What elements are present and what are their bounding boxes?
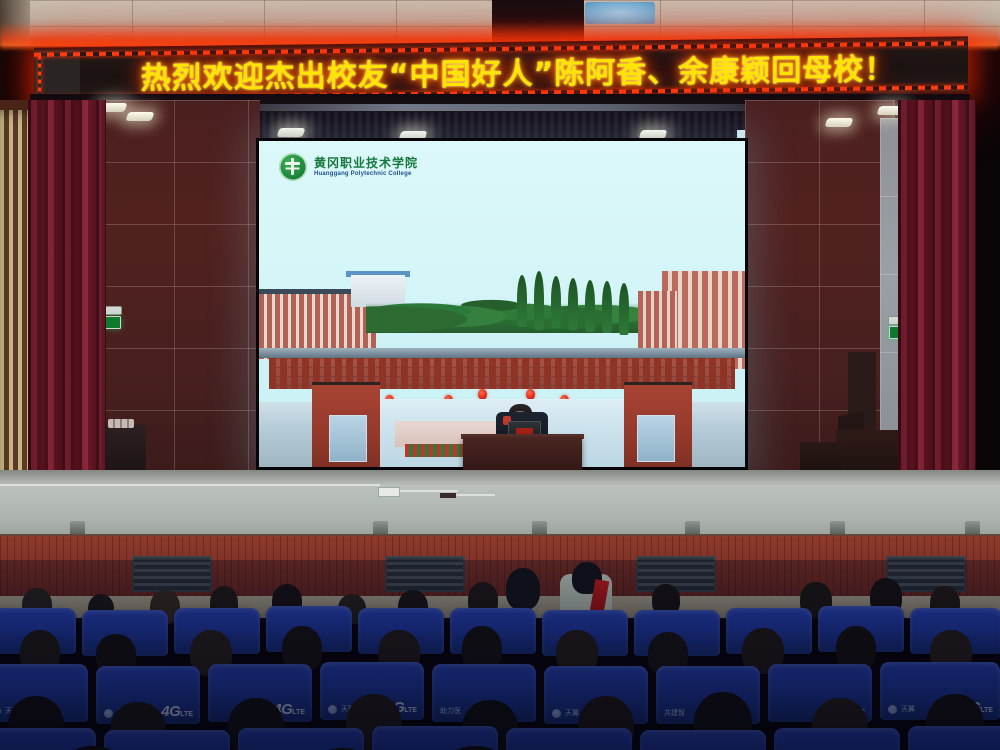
stage-floor-light-1	[70, 521, 85, 534]
audience-seating: 天翼 天翼 4GLTE 4GLTE 天翼 4GLTE 助力医	[0, 560, 1000, 750]
screen-cypress-6	[602, 281, 613, 333]
stage-floor-light-4	[685, 521, 700, 534]
seat[interactable]: 天翼 4GLTE	[506, 728, 632, 750]
seat-slogan: 助力医	[440, 706, 461, 716]
ceiling-spotlight-1	[126, 112, 155, 121]
ceiling-spotlight-6	[825, 118, 854, 127]
college-logo: 黄冈职业技术学院 Huanggang Polytechnic College	[279, 153, 418, 181]
valance-highlight	[170, 104, 830, 111]
screen-treeline	[366, 278, 638, 333]
screen-cypress-3	[551, 276, 562, 328]
seat-brand-text: 天翼	[565, 708, 579, 718]
exit-sign-left	[105, 316, 121, 329]
screen-cypress-4	[568, 278, 579, 330]
cups-on-table	[108, 419, 134, 428]
college-emblem-icon	[279, 153, 307, 181]
stage-curtain-left	[28, 100, 106, 520]
led-banner-text: 热烈欢迎杰出校友“中国好人”陈阿香、余康颖回母校！	[82, 45, 954, 96]
tianyi-logo-icon	[888, 705, 897, 714]
college-name-cn: 黄冈职业技术学院	[314, 157, 418, 170]
college-name-en: Huanggang Polytechnic College	[314, 171, 418, 177]
stage-floor-light-5	[830, 521, 845, 534]
stage-floor-light-6	[965, 521, 980, 534]
stage-floor-light-3	[532, 521, 547, 534]
screen-pillar-glass-right	[637, 415, 675, 463]
led-border-left	[38, 56, 41, 98]
ceiling-spotlight-3	[277, 128, 306, 137]
stage-curtain-right	[898, 100, 976, 520]
seat-brand: 天翼	[552, 708, 579, 718]
college-logo-text: 黄冈职业技术学院 Huanggang Polytechnic College	[314, 157, 418, 177]
seat[interactable]: 天翼 4GLTE	[104, 730, 230, 750]
stage-floor-light-2	[373, 521, 388, 534]
seat-network-label: 4GLTE	[161, 703, 193, 720]
screen-pillar-glass-left	[329, 415, 367, 463]
seat[interactable]: 4GLTE	[774, 728, 900, 750]
seat[interactable]: 天翼	[908, 726, 1000, 750]
seat-brand-text: 天翼	[901, 704, 915, 714]
screen-cypress-1	[517, 275, 528, 327]
seat-slogan-text: 助力医	[440, 706, 461, 716]
seat-slogan: 共建智	[664, 708, 685, 718]
seat-brand: 天翼	[888, 704, 915, 714]
tianyi-logo-icon	[328, 705, 337, 714]
ceiling-blue-light	[585, 2, 655, 24]
screen-cypress-5	[585, 280, 596, 332]
stage-cable-1	[0, 484, 380, 486]
seat-slogan-text: 共建智	[664, 708, 685, 718]
emergency-light-left	[104, 306, 122, 315]
screen-cypress-2	[534, 271, 545, 330]
audience-head	[506, 568, 540, 610]
screen-cypress-7	[619, 283, 630, 335]
cable-connector	[440, 493, 456, 498]
stage-cable-2	[398, 490, 458, 492]
seat[interactable]: 天翼	[640, 730, 766, 750]
seat[interactable]: 4GLTE	[238, 728, 364, 750]
tianyi-logo-icon	[104, 709, 113, 718]
cable-junction-box	[378, 487, 400, 497]
tianyi-logo-icon	[552, 709, 561, 718]
auditorium-photo: 热烈欢迎杰出校友“中国好人”陈阿香、余康颖回母校！	[0, 0, 1000, 750]
tianyi-logo-icon	[0, 707, 1, 716]
stage-cable-3	[455, 494, 495, 496]
